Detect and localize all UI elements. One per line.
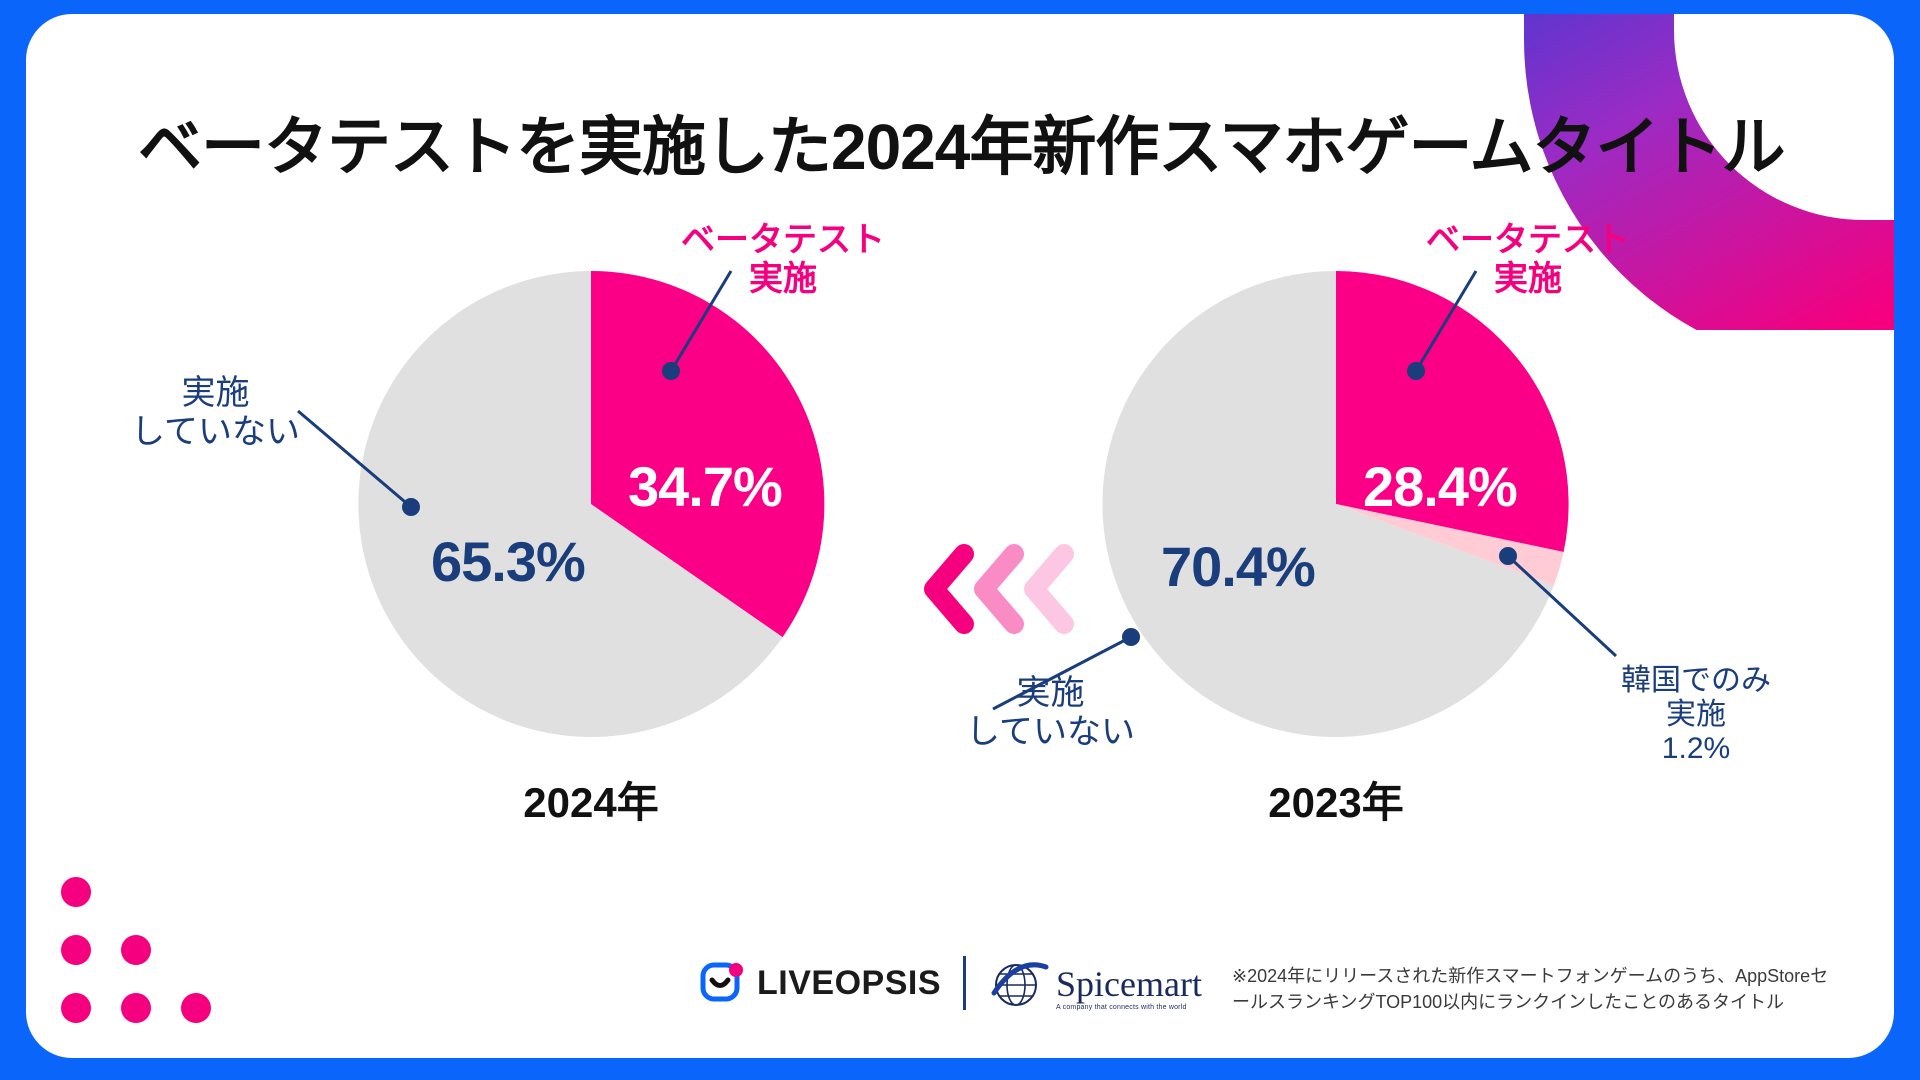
infographic-slide: ベータテストを実施した2024年新作スマホゲームタイトル [0,0,1920,1080]
logo-row: LIVEOPSIS Spicemart A company that conne… [700,955,1202,1011]
globe-icon [988,955,1050,1011]
spicemart-tagline: A company that connects with the world [1056,1004,1202,1011]
footnote: ※2024年にリリースされた新作スマートフォンゲームのうち、AppStoreセー… [1232,963,1832,1015]
pie-label-beta-2023: ベータテスト 実施 [1426,221,1630,299]
pie-label-korea-2023-line2: 実施 [1621,698,1771,732]
pie-label-beta-2024: ベータテスト 実施 [681,221,885,299]
pie-value-beta-2023: 28.4% [1363,454,1517,519]
content-card: ベータテストを実施した2024年新作スマホゲームタイトル [26,14,1894,1058]
pie-label-not-implemented-2023-line1: 実施 [966,674,1135,713]
pie-label-korea-2023: 韓国でのみ 実施 1.2% [1621,664,1771,767]
liveopsis-logo: LIVEOPSIS [700,960,941,1006]
pie-year-label-2024: 2024年 [481,769,701,830]
pie-label-beta-2023-line1: ベータテスト [1426,221,1630,260]
pie-label-not-implemented-2023: 実施 していない [966,674,1135,752]
pie-value-beta-2024: 34.7% [628,454,782,519]
spicemart-logo: Spicemart A company that connects with t… [988,955,1202,1011]
pie-label-not-implemented-2023-line2: していない [966,713,1135,752]
logo-divider [963,956,966,1010]
page-title: ベータテストを実施した2024年新作スマホゲームタイトル [138,96,1838,188]
pie-year-label-2023: 2023年 [1226,769,1446,830]
pie-wrap-2023: 28.4% 70.4% [1101,269,1571,739]
pie-label-beta-2023-line2: 実施 [1426,260,1630,299]
pie-label-not-implemented-2024: 実施 していない [131,374,300,452]
spicemart-wordmark: Spicemart [1056,966,1202,1002]
pie-value-not-implemented-2023: 70.4% [1161,534,1315,599]
comparison-chevrons-icon [916,534,1086,644]
pie-label-beta-2024-line2: 実施 [681,260,885,299]
liveopsis-mark-icon [700,960,746,1006]
pie-chart-2024: 34.7% 65.3% ベータテスト 実施 実施 していない 2024年 [356,269,826,739]
pie-label-not-implemented-2024-line2: していない [131,413,300,452]
pie-value-not-implemented-2024: 65.3% [431,529,585,594]
pie-wrap-2024: 34.7% 65.3% [356,269,826,739]
spicemart-text: Spicemart A company that connects with t… [1056,966,1202,1011]
pie-label-not-implemented-2024-line1: 実施 [131,374,300,413]
pie-value-korea-2023: 1.2% [1621,732,1771,766]
footer: LIVEOPSIS Spicemart A company that conne… [0,955,1920,1065]
pie-chart-2023: 28.4% 70.4% ベータテスト 実施 韓国でのみ 実施 1.2% 実施 し… [1101,269,1571,739]
pie-label-beta-2024-line1: ベータテスト [681,221,885,260]
liveopsis-wordmark: LIVEOPSIS [757,964,941,1003]
pie-label-korea-2023-line1: 韓国でのみ [1621,664,1771,698]
